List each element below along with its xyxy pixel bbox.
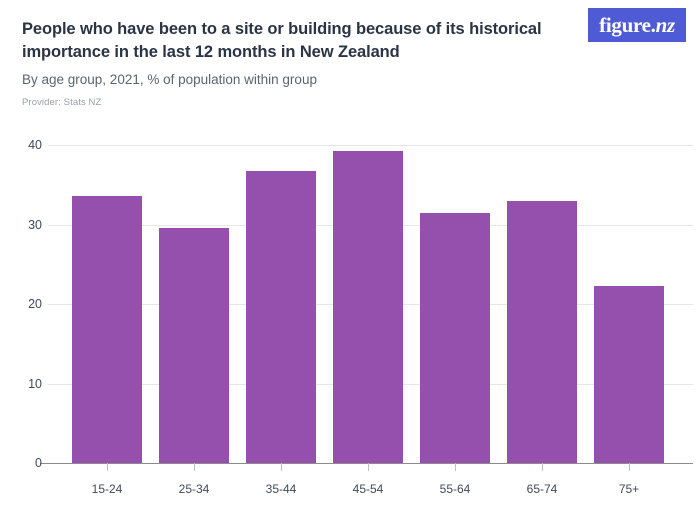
x-axis-tick-label: 15-24: [72, 483, 142, 495]
x-axis-tick: [368, 463, 369, 471]
chart-page: People who have been to a site or buildi…: [0, 0, 700, 525]
chart-provider: Provider: Stats NZ: [22, 97, 567, 108]
x-axis-tick: [542, 463, 543, 471]
logo-text: figure.nz: [599, 15, 675, 36]
chart-subtitle: By age group, 2021, % of population with…: [22, 71, 567, 89]
x-axis-tick: [107, 463, 108, 471]
x-axis-tick-label: 55-64: [420, 483, 490, 495]
page-title: People who have been to a site or buildi…: [22, 18, 567, 65]
x-axis-tick-label: 65-74: [507, 483, 577, 495]
x-axis-tick-label: 35-44: [246, 483, 316, 495]
x-axis-tick: [629, 463, 630, 471]
x-axis-group: 15-2425-3435-4445-5455-6465-7475+: [0, 133, 700, 525]
x-axis-tick-label: 45-54: [333, 483, 403, 495]
chart-header: People who have been to a site or buildi…: [22, 18, 567, 108]
logo-tld: nz: [656, 13, 675, 37]
x-axis-tick-label: 25-34: [159, 483, 229, 495]
logo-name: figure.: [599, 13, 655, 37]
x-axis-tick-label: 75+: [594, 483, 664, 495]
figurenz-logo[interactable]: figure.nz: [588, 8, 686, 42]
chart-plot-area: 010203040 15-2425-3435-4445-5455-6465-74…: [0, 133, 700, 525]
x-axis-tick: [455, 463, 456, 471]
x-axis-tick: [281, 463, 282, 471]
x-axis-tick: [194, 463, 195, 471]
